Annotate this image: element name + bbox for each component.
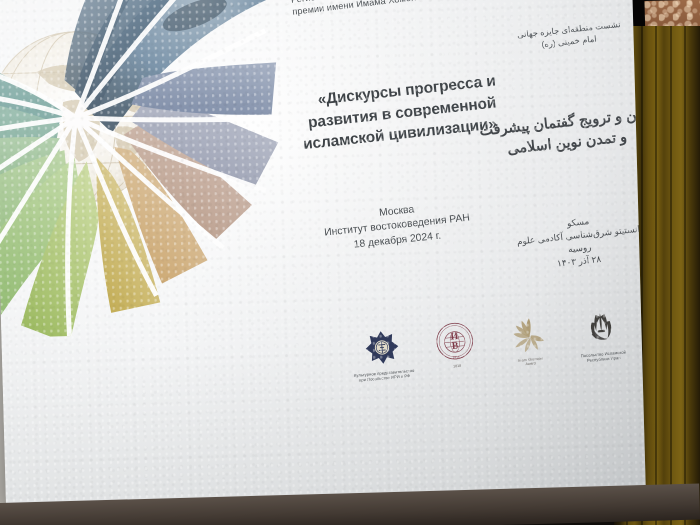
logo-imam-khomeini-award: Imam Khomeini Award [492, 312, 566, 370]
spiral-swirl-icon [510, 314, 545, 357]
logo-caption: Посольство Исламской Республики Иран [581, 349, 627, 363]
globe-seal-icon: И В 1818 [434, 320, 475, 363]
iran-emblem-icon [583, 307, 618, 350]
persian-footer: مسکو انستیتو شرق‌شناسی آکادمی علوم روسیه… [503, 214, 645, 270]
logo-caption: Imam Khomeini Award [518, 357, 544, 368]
russian-footer: Москва Институт востоковедения РАН 18 де… [298, 203, 495, 252]
photo-scene: Региональная конференция Всемирной преми… [0, 0, 700, 525]
logo-institute-oriental-studies: И В 1818 1818 [418, 318, 492, 371]
russian-title: «Дискурсы прогресса и развития в совреме… [282, 70, 496, 140]
swirl-globe-graphic [0, 0, 303, 341]
russian-header: Региональная конференция Всемирной преми… [290, 0, 491, 19]
logo-caption: Культурное представительство при Посольс… [354, 368, 415, 384]
logo-iran-embassy: Посольство Исламской Республики Иран [565, 306, 639, 365]
persian-title: تبیین و ترویج گفتمان پیشرفت و تمدن نوین … [476, 110, 646, 157]
logo-cultural-representation: Культурное представительство при Посольс… [345, 325, 419, 384]
eight-point-star-icon [363, 326, 400, 369]
persian-header: نشست منطقه‌ای جایزه جهانی امام خمینی (ره… [493, 22, 644, 49]
logo-strip: Культурное представительство при Посольс… [345, 306, 640, 405]
svg-text:1818: 1818 [453, 355, 460, 360]
conference-banner: Региональная конференция Всемирной преми… [0, 0, 646, 509]
logo-caption: 1818 [453, 364, 461, 369]
svg-text:В: В [452, 340, 460, 352]
